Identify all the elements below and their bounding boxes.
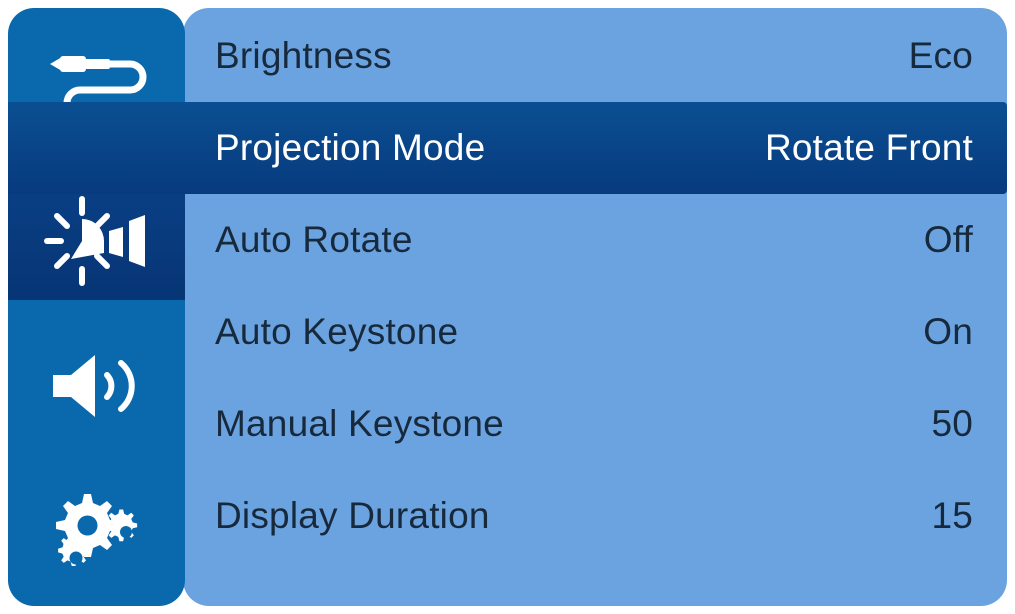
menu-row-label: Manual Keystone [215,403,504,445]
menu-row-value: Rotate Front [765,127,973,169]
menu-row-value: 15 [931,495,973,537]
menu-row-label: Brightness [215,35,392,77]
menu-row-label: Auto Keystone [215,311,458,353]
menu-row-auto-rotate[interactable]: Auto Rotate Off [185,194,1007,286]
menu-row-display-duration[interactable]: Display Duration 15 [185,470,1007,562]
menu-row-label: Display Duration [215,495,490,537]
menu-row-projection-mode[interactable]: Projection Mode Rotate Front [185,102,1007,194]
menu-row-value: On [923,311,973,353]
menu-row-brightness[interactable]: Brightness Eco [185,10,1007,102]
menu-row-label: Projection Mode [215,127,485,169]
menu-row-auto-keystone[interactable]: Auto Keystone On [185,286,1007,378]
display-settings-menu: Brightness Eco Projection Mode Rotate Fr… [0,0,1015,614]
menu-row-manual-keystone[interactable]: Manual Keystone 50 [185,378,1007,470]
osd-root: Brightness Eco Projection Mode Rotate Fr… [0,0,1015,614]
menu-row-label: Auto Rotate [215,219,413,261]
menu-row-value: Eco [909,35,973,77]
menu-row-value: 50 [931,403,973,445]
menu-row-value: Off [924,219,973,261]
